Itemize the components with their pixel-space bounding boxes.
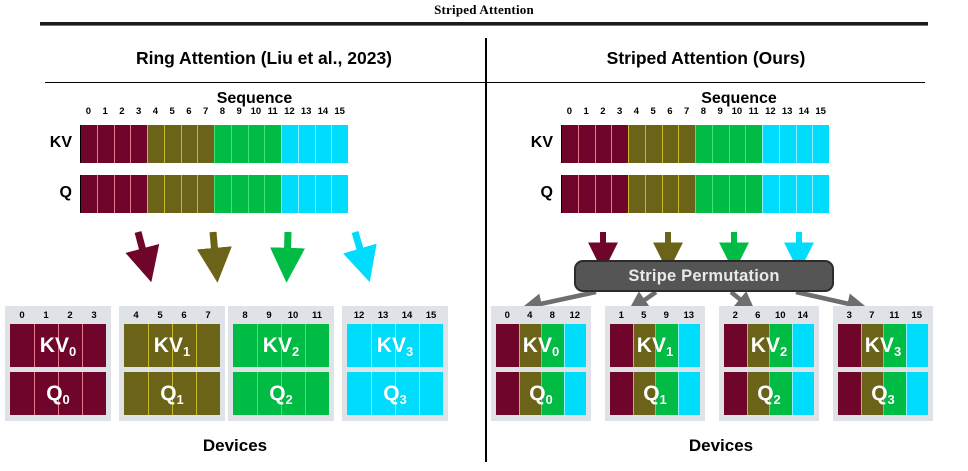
sequence-tick-11: 11 [745,106,762,118]
arrow-permutation-to-device-2 [731,292,748,306]
device-ticks: 15913 [610,309,700,322]
device-kv-block: KV2 [233,324,329,367]
device-kv-block: KV1 [610,324,700,367]
device-kv-cell-1 [747,324,770,367]
device-q-block: Q1 [124,372,220,415]
sequence-cell-10 [248,175,265,213]
sequence-cell-7 [197,125,214,163]
sequence-tick-9: 9 [712,106,729,118]
device-tick-5: 5 [633,309,656,322]
sequence-cell-15 [331,125,348,163]
device-ticks: 891011 [233,309,329,322]
panel-heading-right: Striped Attention (Ours) [487,48,925,74]
sequence-tick-1: 1 [578,106,595,118]
device-q-block: Q3 [838,372,928,415]
device-ticks: 261014 [724,309,814,322]
sequence-cell-0 [80,175,97,213]
sequence-tick-6: 6 [662,106,679,118]
device-kv-cell-1 [371,324,395,367]
device-tick-9: 9 [655,309,678,322]
sequence-cell-5 [164,125,181,163]
device-kv-cell-2 [883,324,906,367]
device-ticks: 0123 [10,309,106,322]
device-q-block: Q1 [610,372,700,415]
device-tick-2: 2 [58,309,82,322]
sequence-tick-10: 10 [729,106,746,118]
sequence-cell-8 [695,125,712,163]
sequence-cell-11 [264,175,281,213]
device-kv-cell-1 [34,324,58,367]
device-tick-1: 1 [34,309,58,322]
sequence-tick-14: 14 [796,106,813,118]
device-tick-8: 8 [233,309,257,322]
sequence-cell-6 [181,175,198,213]
device-kv-cell-2 [541,324,564,367]
row-label-q-left: Q [10,184,72,202]
sequence-tick-3: 3 [611,106,628,118]
sequence-tick-1: 1 [97,106,114,118]
device-q-cell-1 [148,372,172,415]
title-rule-thin [40,25,928,26]
device-q-cell-3 [419,372,443,415]
sequence-cell-3 [130,175,147,213]
device-kv-cell-0 [724,324,747,367]
sequence-cell-5 [645,125,662,163]
sequence-cell-2 [114,125,131,163]
device-q-cell-3 [82,372,106,415]
stripe-permutation-box[interactable]: Stripe Permutation [574,260,834,292]
device-q-cell-2 [58,372,82,415]
device-q-cell-1 [633,372,656,415]
device-tick-4: 4 [519,309,542,322]
device-q-cell-2 [281,372,305,415]
sequence-cell-11 [745,175,762,213]
sequence-cell-3 [130,125,147,163]
device-kv-cell-3 [678,324,701,367]
sequence-tick-2: 2 [595,106,612,118]
panel-heading-left: Ring Attention (Liu et al., 2023) [45,48,483,74]
device-tick-1: 1 [610,309,633,322]
device-q-cell-3 [196,372,220,415]
sequence-cell-13 [298,125,315,163]
sequence-cell-0 [80,125,97,163]
device-q-cell-2 [541,372,564,415]
page-title: Striped Attention [0,2,968,18]
device-tick-4: 4 [124,309,148,322]
device-kv-block: KV1 [124,324,220,367]
sequence-cell-1 [97,125,114,163]
sequence-tick-5: 5 [164,106,181,118]
sequence-cell-14 [796,125,813,163]
sequence-cell-10 [729,125,746,163]
sequence-cell-9 [712,125,729,163]
sequence-cell-9 [712,175,729,213]
device-tick-3: 3 [82,309,106,322]
row-label-q-right: Q [491,184,553,202]
device-q-cell-3 [564,372,587,415]
sequence-cell-4 [628,125,645,163]
device-tick-11: 11 [883,309,906,322]
device-tick-9: 9 [257,309,281,322]
panel-striped-attention: Sequence 0123456789101112131415 KV Q [486,84,968,471]
sequence-tick-0: 0 [561,106,578,118]
device-kv-cell-0 [233,324,257,367]
sequence-cell-11 [264,125,281,163]
device-tick-15: 15 [419,309,443,322]
sequence-cell-6 [181,125,198,163]
device-kv-cell-0 [838,324,861,367]
device-q-cell-3 [792,372,815,415]
device-kv-cell-3 [82,324,106,367]
sequence-tick-7: 7 [197,106,214,118]
sequence-tick-3: 3 [130,106,147,118]
device-kv-cell-3 [419,324,443,367]
sequence-cell-6 [662,175,679,213]
device-ticks: 04812 [496,309,586,322]
sequence-tick-2: 2 [114,106,131,118]
device-q-cell-2 [655,372,678,415]
device-kv-cell-1 [257,324,281,367]
device-box-1[interactable]: 15913KV1Q1 [605,306,705,421]
sequence-cell-3 [611,125,628,163]
device-tick-6: 6 [172,309,196,322]
row-label-kv-right: KV [491,134,553,152]
device-ticks: 371115 [838,309,928,322]
sequence-bar-q-right [561,175,829,213]
sequence-cell-4 [628,175,645,213]
sequence-tick-9: 9 [231,106,248,118]
arrow-device-2-left [287,232,288,266]
sequence-cell-3 [611,175,628,213]
device-q-cell-3 [906,372,929,415]
device-tick-6: 6 [747,309,770,322]
sequence-cell-5 [164,175,181,213]
sequence-cell-2 [595,175,612,213]
device-q-cell-3 [305,372,329,415]
sequence-tick-5: 5 [645,106,662,118]
device-kv-cell-2 [58,324,82,367]
sequence-cell-8 [214,175,231,213]
device-kv-cell-0 [124,324,148,367]
sequence-cell-0 [561,125,578,163]
sequence-cell-12 [762,125,779,163]
sequence-ticks-left: 0123456789101112131415 [80,106,348,118]
device-q-cell-0 [10,372,34,415]
sequence-cell-11 [745,125,762,163]
sequence-tick-7: 7 [678,106,695,118]
device-tick-14: 14 [792,309,815,322]
sequence-cell-0 [561,175,578,213]
devices-caption-right: Devices [486,436,956,456]
device-q-cell-0 [724,372,747,415]
sequence-tick-6: 6 [181,106,198,118]
sequence-cell-7 [678,125,695,163]
device-kv-cell-1 [633,324,656,367]
device-q-cell-0 [496,372,519,415]
device-tick-2: 2 [724,309,747,322]
devices-caption-left: Devices [0,436,470,456]
device-kv-cell-2 [395,324,419,367]
sequence-cell-2 [595,125,612,163]
arrow-device-0-left [138,232,147,266]
sequence-cell-4 [147,125,164,163]
sequence-cell-5 [645,175,662,213]
device-q-cell-0 [233,372,257,415]
sequence-tick-11: 11 [264,106,281,118]
device-tick-0: 0 [496,309,519,322]
device-q-cell-2 [769,372,792,415]
sequence-tick-12: 12 [762,106,779,118]
sequence-tick-13: 13 [779,106,796,118]
device-tick-13: 13 [678,309,701,322]
stripe-permutation-label: Stripe Permutation [628,267,779,286]
device-box-0[interactable]: 04812KV0Q0 [491,306,591,421]
device-kv-cell-3 [792,324,815,367]
device-tick-7: 7 [196,309,220,322]
sequence-cell-1 [578,125,595,163]
device-box-3[interactable]: 12131415KV3Q3 [342,306,448,421]
row-label-kv-left: KV [10,134,72,152]
device-box-0[interactable]: 0123KV0Q0 [5,306,111,421]
device-q-cell-2 [883,372,906,415]
device-q-cell-1 [747,372,770,415]
arrow-permutation-to-device-3 [796,292,858,306]
sequence-tick-4: 4 [628,106,645,118]
sequence-cell-10 [729,175,746,213]
device-tick-10: 10 [769,309,792,322]
device-kv-cell-0 [347,324,371,367]
device-q-cell-0 [347,372,371,415]
device-tick-14: 14 [395,309,419,322]
sequence-cell-7 [678,175,695,213]
device-q-block: Q2 [233,372,329,415]
device-kv-cell-1 [519,324,542,367]
sequence-cell-13 [779,175,796,213]
sequence-cell-13 [298,175,315,213]
device-q-cell-0 [838,372,861,415]
sequence-tick-4: 4 [147,106,164,118]
sequence-tick-15: 15 [812,106,829,118]
sequence-tick-12: 12 [281,106,298,118]
sequence-cell-12 [281,175,298,213]
sequence-bar-kv-left [80,125,348,163]
device-q-cell-0 [124,372,148,415]
sequence-cell-1 [578,175,595,213]
device-q-cell-1 [257,372,281,415]
device-q-block: Q0 [10,372,106,415]
device-q-cell-2 [395,372,419,415]
sequence-cell-1 [97,175,114,213]
sequence-tick-13: 13 [298,106,315,118]
device-box-3[interactable]: 371115KV3Q3 [833,306,933,421]
device-tick-5: 5 [148,309,172,322]
device-ticks: 4567 [124,309,220,322]
device-kv-cell-1 [148,324,172,367]
device-tick-11: 11 [305,309,329,322]
sequence-cell-8 [214,125,231,163]
device-q-block: Q2 [724,372,814,415]
device-tick-0: 0 [10,309,34,322]
device-q-block: Q3 [347,372,443,415]
sequence-cell-15 [331,175,348,213]
arrow-device-3-left [355,232,365,266]
sequence-cell-10 [248,125,265,163]
device-kv-block: KV0 [10,324,106,367]
sequence-cell-4 [147,175,164,213]
arrow-permutation-to-device-1 [636,292,656,306]
device-box-2[interactable]: 261014KV2Q2 [719,306,819,421]
device-kv-cell-2 [172,324,196,367]
device-q-cell-0 [610,372,633,415]
device-kv-cell-3 [564,324,587,367]
device-tick-12: 12 [347,309,371,322]
sequence-cell-6 [662,125,679,163]
device-tick-13: 13 [371,309,395,322]
device-tick-3: 3 [838,309,861,322]
device-q-cell-1 [861,372,884,415]
device-ticks: 12131415 [347,309,443,322]
sequence-cell-9 [231,175,248,213]
device-kv-cell-2 [281,324,305,367]
device-kv-cell-1 [861,324,884,367]
sequence-tick-10: 10 [248,106,265,118]
device-kv-cell-0 [496,324,519,367]
device-kv-block: KV3 [838,324,928,367]
sequence-cell-12 [281,125,298,163]
device-q-cell-3 [678,372,701,415]
sequence-tick-15: 15 [331,106,348,118]
sequence-cell-7 [197,175,214,213]
device-tick-10: 10 [281,309,305,322]
sequence-cell-14 [315,125,332,163]
sequence-cell-12 [762,175,779,213]
sequence-tick-8: 8 [695,106,712,118]
sequence-ticks-right: 0123456789101112131415 [561,106,829,118]
device-kv-block: KV0 [496,324,586,367]
device-tick-15: 15 [906,309,929,322]
device-kv-cell-3 [305,324,329,367]
sequence-tick-8: 8 [214,106,231,118]
sequence-tick-0: 0 [80,106,97,118]
sequence-cell-13 [779,125,796,163]
sequence-tick-14: 14 [315,106,332,118]
device-kv-block: KV2 [724,324,814,367]
device-q-cell-1 [34,372,58,415]
sequence-cell-8 [695,175,712,213]
device-kv-cell-3 [196,324,220,367]
sequence-cell-14 [796,175,813,213]
device-kv-cell-0 [610,324,633,367]
sequence-bar-q-left [80,175,348,213]
device-kv-cell-0 [10,324,34,367]
device-kv-cell-3 [906,324,929,367]
device-tick-12: 12 [564,309,587,322]
device-q-cell-1 [519,372,542,415]
device-kv-cell-2 [655,324,678,367]
device-tick-8: 8 [541,309,564,322]
device-q-cell-2 [172,372,196,415]
sequence-cell-15 [812,175,829,213]
sequence-cell-15 [812,125,829,163]
device-kv-block: KV3 [347,324,443,367]
figure-root: Striped Attention Ring Attention (Liu et… [0,0,968,471]
device-kv-cell-2 [769,324,792,367]
sequence-cell-9 [231,125,248,163]
device-tick-7: 7 [861,309,884,322]
device-box-1[interactable]: 4567KV1Q1 [119,306,225,421]
sequence-cell-14 [315,175,332,213]
device-box-2[interactable]: 891011KV2Q2 [228,306,334,421]
sequence-cell-2 [114,175,131,213]
arrow-permutation-to-device-0 [531,292,596,306]
device-q-cell-1 [371,372,395,415]
arrow-device-1-left [213,232,216,266]
sequence-bar-kv-right [561,125,829,163]
device-q-block: Q0 [496,372,586,415]
panel-ring-attention: Sequence 0123456789101112131415 KV Q [0,84,485,471]
